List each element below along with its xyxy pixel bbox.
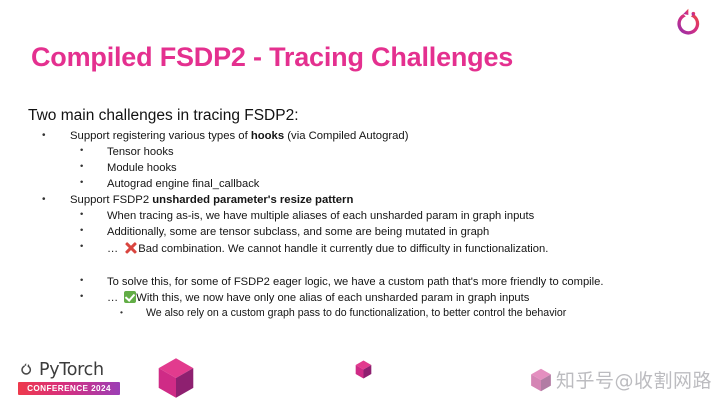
bullet-custom-graph-pass: • We also rely on a custom graph pass to… [120, 307, 700, 321]
cube-icon [530, 368, 552, 392]
pytorch-wordmark: PyTorch [39, 360, 104, 380]
bullet-hooks: • Support registering various types of h… [42, 129, 700, 144]
bullet-dot-icon: • [80, 177, 94, 189]
pytorch-conference-logo: PyTorch CONFERENCE 2024 [18, 359, 122, 395]
bullet-list-level3: • We also rely on a custom graph pass to… [120, 307, 700, 321]
cube-icon [355, 360, 372, 379]
presentation-slide: Compiled FSDP2 - Tracing Challenges Two … [0, 0, 720, 405]
conference-badge-label: CONFERENCE 2024 [27, 384, 111, 393]
pytorch-flame-icon [670, 4, 708, 42]
bullet-dot-icon: • [120, 307, 134, 318]
bullet-module-hooks: • Module hooks [80, 161, 700, 176]
bullet-spacer [80, 259, 700, 275]
bullet-dot-icon: • [80, 291, 94, 303]
pytorch-flame-small-icon [18, 361, 35, 378]
lead-paragraph: Two main challenges in tracing FSDP2: [28, 106, 700, 127]
bullet-one-alias: • … With this, we now have only one alia… [80, 291, 700, 306]
conference-badge: CONFERENCE 2024 [18, 382, 120, 395]
bullet-one-alias-text: … With this, we now have only one alias … [107, 291, 700, 306]
bullet-bad-combination: • … Bad combination. We cannot handle it… [80, 241, 700, 257]
cube-icon [157, 357, 195, 399]
slide-body: Two main challenges in tracing FSDP2: • … [28, 106, 700, 321]
bullet-module-hooks-text: Module hooks [107, 161, 700, 176]
bullet-hooks-text: Support registering various types of hoo… [70, 129, 700, 144]
bullet-dot-icon: • [80, 145, 94, 157]
bullet-resize-pattern: • Support FSDP2 unsharded parameter's re… [42, 193, 700, 208]
bullet-list-level2-hooks: • Tensor hooks • Module hooks • Autograd… [80, 145, 700, 192]
bullet-list-level1: • Support registering various types of h… [42, 129, 700, 321]
bullet-dot-icon: • [42, 193, 56, 206]
cross-mark-icon [124, 241, 137, 254]
bullet-dot-icon: • [80, 275, 94, 287]
bullet-custom-graph-pass-text: We also rely on a custom graph pass to d… [146, 307, 700, 321]
bullet-tensor-subclass: • Additionally, some are tensor subclass… [80, 225, 700, 240]
bullet-custom-path: • To solve this, for some of FSDP2 eager… [80, 275, 700, 290]
bullet-custom-path-text: To solve this, for some of FSDP2 eager l… [107, 275, 700, 290]
bullet-tensor-hooks-text: Tensor hooks [107, 145, 700, 160]
bullet-multiple-aliases-text: When tracing as-is, we have multiple ali… [107, 209, 700, 224]
bullet-autograd-final-callback: • Autograd engine final_callback [80, 177, 700, 192]
bullet-dot-icon: • [80, 209, 94, 221]
bullet-tensor-subclass-text: Additionally, some are tensor subclass, … [107, 225, 700, 240]
bullet-dot-icon: • [80, 241, 94, 253]
bullet-tensor-hooks: • Tensor hooks [80, 145, 700, 160]
bullet-dot-icon: • [42, 129, 56, 142]
watermark-text: 知乎号@收割网路 [556, 366, 712, 393]
bullet-dot-icon: • [80, 225, 94, 237]
bullet-list-level2-resize: • When tracing as-is, we have multiple a… [80, 209, 700, 321]
bullet-dot-icon: • [80, 161, 94, 173]
bullet-resize-pattern-text: Support FSDP2 unsharded parameter's resi… [70, 193, 700, 208]
bullet-multiple-aliases: • When tracing as-is, we have multiple a… [80, 209, 700, 224]
bullet-autograd-final-callback-text: Autograd engine final_callback [107, 177, 700, 192]
bullet-bad-combination-text: … Bad combination. We cannot handle it c… [107, 241, 700, 257]
check-mark-icon [124, 291, 136, 303]
pytorch-wordmark-row: PyTorch [18, 359, 122, 380]
zhihu-watermark: 知乎号@收割网路 [530, 366, 712, 393]
slide-title: Compiled FSDP2 - Tracing Challenges [31, 42, 513, 73]
